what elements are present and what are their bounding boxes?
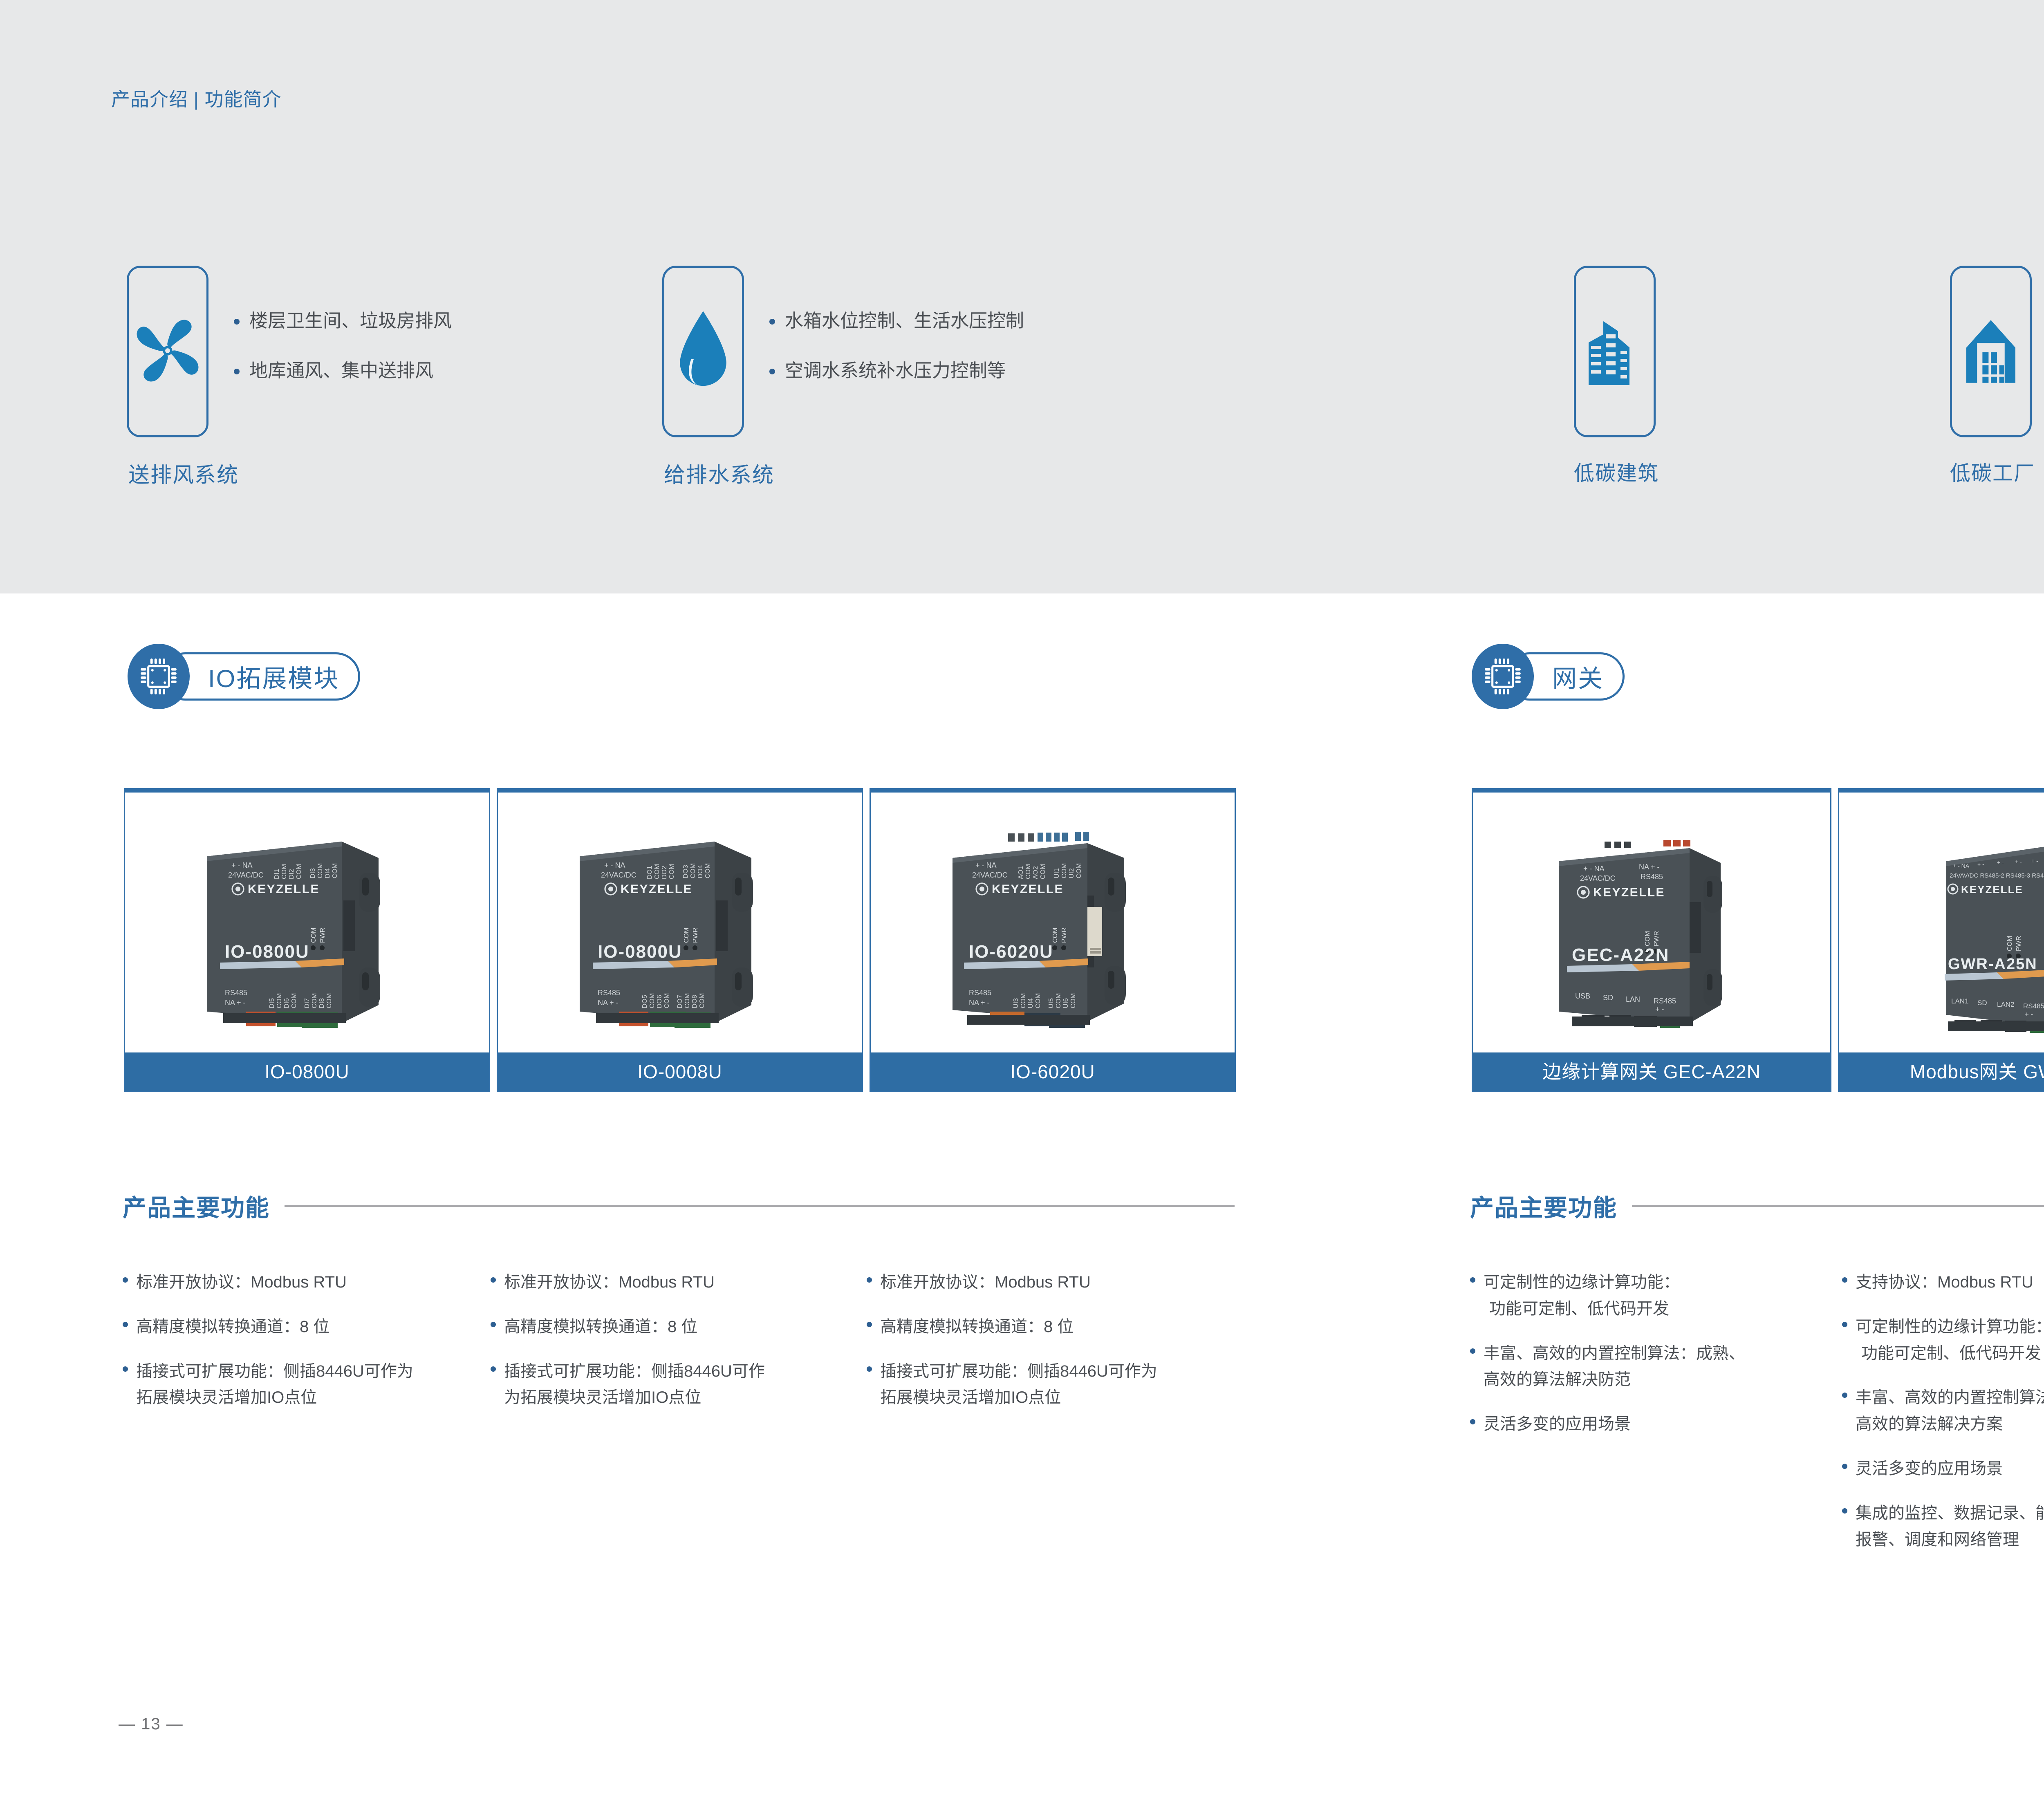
svg-text:+ - NA: + - NA <box>975 861 997 869</box>
svg-text:IO-0800U: IO-0800U <box>598 942 682 962</box>
svg-text:COM: COM <box>683 928 690 943</box>
bullet-dot <box>867 1366 872 1372</box>
svg-text:COM: COM <box>1052 928 1059 943</box>
list-item: 可定制性的边缘计算功能：功能可定制、低代码开发 <box>1470 1269 1842 1322</box>
bullet-dot <box>1470 1419 1475 1424</box>
svg-text:RS485: RS485 <box>598 989 620 997</box>
svg-text:COM: COM <box>1035 993 1042 1008</box>
bullet-dot <box>769 369 775 374</box>
bullet-dot <box>123 1366 128 1372</box>
svg-text:+ - NA: + - NA <box>1583 864 1605 873</box>
list-item: 高精度模拟转换通道：8 位 <box>491 1314 867 1340</box>
product-card[interactable]: + - NA+ -+ - + -+ - 24VAV/DC RS485-2 RS4… <box>1838 788 2044 1092</box>
svg-text:DI5: DI5 <box>269 998 276 1008</box>
svg-text:GWR-A25N: GWR-A25N <box>1948 956 2037 973</box>
svg-text:IO-0800U: IO-0800U <box>225 942 309 962</box>
office-buildings-icon <box>1582 310 1647 394</box>
svg-text:DO7: DO7 <box>677 995 684 1008</box>
svg-text:COM: COM <box>1055 993 1062 1008</box>
svg-text:RS485: RS485 <box>225 989 247 997</box>
svg-text:LAN1: LAN1 <box>1951 997 1969 1005</box>
svg-text:COM: COM <box>1076 863 1083 878</box>
list-item: 空调水系统补水压力控制等 <box>769 360 1024 382</box>
bullet-dot <box>491 1366 496 1372</box>
svg-text:KEYZELLE: KEYZELLE <box>992 882 1064 896</box>
product-photo: + - NA+ -+ - + -+ - 24VAV/DC RS485-2 RS4… <box>1839 793 2044 1052</box>
svg-text:PWR: PWR <box>1061 928 1068 943</box>
product-card[interactable]: + - NA 24VAC/DC NA + - RS485 KEYZELLE CO… <box>1472 788 1831 1092</box>
bullet-dot <box>123 1322 128 1327</box>
office-buildings-icon-tile <box>1574 266 1656 437</box>
list-item: 丰富、高效的内置控制算法：成熟、高效的算法解决方案 <box>1842 1384 2044 1438</box>
product-photo: + - NA 24VAC/DC DI1 COM DI2 COM DI3 COM … <box>125 793 489 1052</box>
factory-icon-tile <box>1950 266 2032 437</box>
svg-text:COM: COM <box>1020 993 1027 1008</box>
water-drop-icon <box>672 308 734 396</box>
svg-text:COM: COM <box>668 864 675 879</box>
bullet-dot <box>1842 1508 1847 1514</box>
svg-text:DO6: DO6 <box>656 995 663 1008</box>
section-badge-io-modules-label: IO拓展模块 <box>208 659 339 694</box>
svg-text:NA + -: NA + - <box>598 999 619 1007</box>
svg-text:RS485: RS485 <box>1654 997 1676 1005</box>
feature-heading-io-text: 产品主要功能 <box>123 1189 270 1223</box>
svg-text:SD: SD <box>1977 999 1987 1007</box>
bullet-dot <box>769 319 775 325</box>
scenario-water-supply-bullets: 水箱水位控制、生活水压控制 空调水系统补水压力控制等 <box>769 310 1024 410</box>
svg-text:COM: COM <box>704 863 711 878</box>
svg-text:KEYZELLE: KEYZELLE <box>248 882 320 896</box>
svg-text:+ - NA: + - NA <box>604 861 625 869</box>
feature-column: 标准开放协议：Modbus RTU 高精度模拟转换通道：8 位 插接式可扩展功能… <box>123 1269 491 1429</box>
svg-text:RS485-1: RS485-1 <box>2023 1002 2044 1010</box>
svg-text:COM: COM <box>291 993 298 1008</box>
svg-text:UI5: UI5 <box>1048 998 1055 1008</box>
bullet-dot <box>491 1322 496 1327</box>
scenario-ventilation-caption: 送排风系统 <box>128 458 239 488</box>
feature-column: 标准开放协议：Modbus RTU 高精度模拟转换通道：8 位 插接式可扩展功能… <box>867 1269 1235 1429</box>
svg-text:UI1: UI1 <box>1053 868 1060 878</box>
svg-text:USB: USB <box>1575 992 1590 1000</box>
list-item: 标准开放协议：Modbus RTU <box>123 1269 491 1296</box>
svg-text:SD: SD <box>1603 994 1613 1002</box>
bullet-dot <box>1470 1348 1475 1354</box>
heading-rule <box>1632 1205 2044 1207</box>
list-item: 高精度模拟转换通道：8 位 <box>867 1314 1235 1340</box>
product-photo: + - NA 24VAC/DC NA + - RS485 KEYZELLE CO… <box>1473 793 1830 1052</box>
svg-text:KEYZELLE: KEYZELLE <box>1593 886 1665 899</box>
svg-text:24VAC/DC: 24VAC/DC <box>1580 874 1616 882</box>
svg-text:UI2: UI2 <box>1068 868 1075 878</box>
svg-text:AO2: AO2 <box>1032 866 1039 879</box>
fan-icon-tile <box>127 266 208 437</box>
bullet-dot <box>867 1277 872 1283</box>
running-head-left: 产品介绍 | 功能简介 <box>111 85 282 112</box>
bullet-dot <box>867 1322 872 1327</box>
svg-text:COM: COM <box>1061 863 1068 878</box>
feature-heading-gateway-text: 产品主要功能 <box>1470 1189 1617 1223</box>
svg-text:DO4: DO4 <box>697 865 704 878</box>
svg-text:COM: COM <box>332 863 338 878</box>
svg-text:COM: COM <box>326 993 333 1008</box>
svg-text:24VAC/DC: 24VAC/DC <box>972 871 1008 879</box>
list-item: 插接式可扩展功能：侧插8446U可作为拓展模块灵活增加IO点位 <box>491 1358 867 1411</box>
svg-text:COM: COM <box>2006 936 2013 951</box>
product-card[interactable]: + - NA 24VAC/DC DI1 COM DI2 COM DI3 COM … <box>124 788 490 1092</box>
list-item: 灵活多变的应用场景 <box>1842 1455 2044 1482</box>
list-item: 水箱水位控制、生活水压控制 <box>769 310 1024 332</box>
product-card[interactable]: + - NA 24VAC/DC AO1 COM AO2 COM UI1 COM … <box>870 788 1236 1092</box>
svg-text:COM: COM <box>1040 864 1047 879</box>
product-photo: + - NA 24VAC/DC AO1 COM AO2 COM UI1 COM … <box>871 793 1235 1052</box>
svg-text:COM: COM <box>276 993 283 1008</box>
svg-text:+ -: + - <box>2031 858 2038 864</box>
low-carbon-factory: 低碳工厂 <box>1950 266 2032 486</box>
svg-text:NA + -: NA + - <box>969 999 990 1007</box>
scenario-water-supply-caption: 给排水系统 <box>664 458 774 488</box>
bullet-dot <box>234 319 240 325</box>
bullet-dot <box>1842 1277 1847 1283</box>
product-card-label: IO-0008U <box>498 1052 862 1091</box>
svg-text:KEYZELLE: KEYZELLE <box>1961 883 2023 896</box>
svg-text:AO1: AO1 <box>1018 866 1024 879</box>
svg-text:RS485: RS485 <box>969 989 991 997</box>
svg-text:COM: COM <box>649 993 656 1008</box>
svg-text:DI4: DI4 <box>324 868 331 878</box>
svg-text:24VAC/DC: 24VAC/DC <box>601 871 637 879</box>
svg-text:PWR: PWR <box>692 928 699 943</box>
svg-text:DI7: DI7 <box>304 998 311 1008</box>
product-card-strip-gateway: + - NA 24VAC/DC NA + - RS485 KEYZELLE CO… <box>1472 788 2044 1092</box>
svg-text:COM: COM <box>281 864 288 879</box>
svg-text:DI3: DI3 <box>309 868 316 878</box>
svg-text:COM: COM <box>1025 864 1032 879</box>
svg-text:UI6: UI6 <box>1062 998 1069 1008</box>
svg-text:DO2: DO2 <box>661 866 668 879</box>
product-card-label: IO-6020U <box>871 1052 1235 1091</box>
svg-text:+ -: + - <box>1655 1005 1664 1013</box>
section-badge-io-modules: IO拓展模块 <box>128 644 360 709</box>
svg-text:RS485: RS485 <box>1641 873 1663 881</box>
svg-text:COM: COM <box>1644 931 1651 946</box>
svg-text:DI2: DI2 <box>288 869 295 879</box>
svg-text:24VAC/DC: 24VAC/DC <box>228 871 264 879</box>
svg-text:UI3: UI3 <box>1013 998 1020 1008</box>
product-card-label: Modbus网关 GWR-A25N <box>1839 1052 2044 1091</box>
brochure-page: 产品介绍 | 功能简介 产品介绍 | 功能简介 — 13 — — 14 — 楼层… <box>0 0 2044 1798</box>
feature-heading-io: 产品主要功能 <box>123 1189 1235 1223</box>
feature-columns-gateway: 可定制性的边缘计算功能：功能可定制、低代码开发 丰富、高效的内置控制算法：成熟、… <box>1470 1269 2044 1571</box>
scenario-ventilation-bullets: 楼层卫生间、垃圾房排风 地库通风、集中送排风 <box>234 310 452 410</box>
svg-text:DO8: DO8 <box>691 995 698 1008</box>
product-card-label: IO-0800U <box>125 1052 489 1091</box>
product-card[interactable]: + - NA 24VAC/DC DO1 COM DO2 COM DO3 COM … <box>497 788 863 1092</box>
list-item: 标准开放协议：Modbus RTU <box>491 1269 867 1296</box>
page-number-left: — 13 — <box>119 1715 184 1733</box>
svg-text:COM: COM <box>296 864 303 879</box>
factory-icon <box>1960 310 2022 394</box>
bullet-dot <box>1842 1393 1847 1398</box>
bullet-dot <box>1470 1277 1475 1283</box>
svg-text:NA + -: NA + - <box>225 999 246 1007</box>
list-item: 支持协议：Modbus RTU <box>1842 1269 2044 1296</box>
svg-text:DO3: DO3 <box>682 865 689 878</box>
bullet-dot <box>1842 1464 1847 1469</box>
svg-text:24VAV/DC RS485-2 RS485-3 RS48: 24VAV/DC RS485-2 RS485-3 RS485-4 RA4B5-5 <box>1950 872 2044 879</box>
svg-text:DI8: DI8 <box>318 998 325 1008</box>
svg-text:COM: COM <box>310 928 317 943</box>
chip-icon <box>1472 644 1534 709</box>
heading-rule <box>285 1205 1235 1207</box>
svg-text:IO-6020U: IO-6020U <box>969 942 1053 962</box>
low-carbon-building-caption: 低碳建筑 <box>1574 457 1656 486</box>
svg-text:+ -: + - <box>1977 861 1984 867</box>
chip-icon <box>128 644 190 709</box>
svg-text:UI4: UI4 <box>1027 998 1034 1008</box>
bullet-dot <box>234 369 240 374</box>
svg-text:KEYZELLE: KEYZELLE <box>621 882 693 896</box>
low-carbon-building: 低碳建筑 <box>1574 266 1656 486</box>
svg-text:DO5: DO5 <box>641 995 648 1008</box>
svg-text:+ - NA: + - NA <box>1953 862 1970 869</box>
fan-icon <box>129 312 206 392</box>
svg-text:DO1: DO1 <box>646 866 653 879</box>
feature-column: 支持协议：Modbus RTU 可定制性的边缘计算功能：功能可定制、低代码开发 … <box>1842 1269 2044 1571</box>
svg-text:COM: COM <box>684 993 691 1008</box>
low-carbon-factory-caption: 低碳工厂 <box>1950 457 2032 486</box>
svg-text:NA + -: NA + - <box>1639 863 1660 871</box>
list-item: 丰富、高效的内置控制算法：成熟、高效的算法解决防范 <box>1470 1340 1842 1393</box>
feature-column: 标准开放协议：Modbus RTU 高精度模拟转换通道：8 位 插接式可扩展功能… <box>491 1269 867 1429</box>
list-item: 插接式可扩展功能：侧插8446U可作为拓展模块灵活增加IO点位 <box>123 1358 491 1411</box>
svg-text:DI1: DI1 <box>273 869 280 879</box>
bullet-dot <box>1842 1322 1847 1327</box>
product-card-strip-io: + - NA 24VAC/DC DI1 COM DI2 COM DI3 COM … <box>124 788 1236 1092</box>
list-item: 高精度模拟转换通道：8 位 <box>123 1314 491 1340</box>
water-drop-icon-tile <box>662 266 744 437</box>
svg-text:PWR: PWR <box>1653 931 1660 946</box>
bullet-dot <box>491 1277 496 1283</box>
svg-text:PWR: PWR <box>2015 936 2022 951</box>
feature-heading-gateway: 产品主要功能 <box>1470 1189 2044 1223</box>
svg-text:+ -: + - <box>2025 1010 2033 1018</box>
svg-text:COM: COM <box>1070 993 1077 1008</box>
svg-text:LAN2: LAN2 <box>1997 1001 2015 1008</box>
top-grey-band <box>0 0 2044 593</box>
product-card-label: 边缘计算网关 GEC-A22N <box>1473 1052 1830 1091</box>
svg-text:DI6: DI6 <box>283 998 290 1008</box>
feature-column: 可定制性的边缘计算功能：功能可定制、低代码开发 丰富、高效的内置控制算法：成熟、… <box>1470 1269 1842 1571</box>
svg-text:COM: COM <box>663 993 670 1008</box>
list-item: 地库通风、集中送排风 <box>234 360 452 382</box>
section-badge-io-modules-pill: IO拓展模块 <box>161 652 360 701</box>
svg-text:COM: COM <box>317 863 324 878</box>
svg-text:+ - NA: + - NA <box>231 861 253 869</box>
svg-text:+ -: + - <box>2015 858 2022 865</box>
section-badge-gateway: 网关 <box>1472 644 1625 709</box>
product-photo: + - NA 24VAC/DC DO1 COM DO2 COM DO3 COM … <box>498 793 862 1052</box>
feature-columns-io: 标准开放协议：Modbus RTU 高精度模拟转换通道：8 位 插接式可扩展功能… <box>123 1269 1235 1429</box>
section-badge-gateway-label: 网关 <box>1552 659 1604 694</box>
svg-text:+ -: + - <box>1997 859 2004 866</box>
svg-text:COM: COM <box>311 993 318 1008</box>
list-item: 灵活多变的应用场景 <box>1470 1411 1842 1438</box>
bullet-dot <box>123 1277 128 1283</box>
list-item: 集成的监控、数据记录、能耗计量、报警、调度和网络管理 <box>1842 1500 2044 1553</box>
svg-text:COM: COM <box>690 863 697 878</box>
list-item: 楼层卫生间、垃圾房排风 <box>234 310 452 332</box>
svg-text:COM: COM <box>654 864 661 879</box>
svg-text:GEC-A22N: GEC-A22N <box>1572 945 1670 965</box>
svg-text:PWR: PWR <box>319 928 326 943</box>
list-item: 标准开放协议：Modbus RTU <box>867 1269 1235 1296</box>
svg-text:COM: COM <box>699 993 706 1008</box>
svg-text:LAN: LAN <box>1626 995 1640 1003</box>
list-item: 插接式可扩展功能：侧插8446U可作为拓展模块灵活增加IO点位 <box>867 1358 1235 1411</box>
list-item: 可定制性的边缘计算功能：功能可定制、低代码开发 <box>1842 1314 2044 1367</box>
